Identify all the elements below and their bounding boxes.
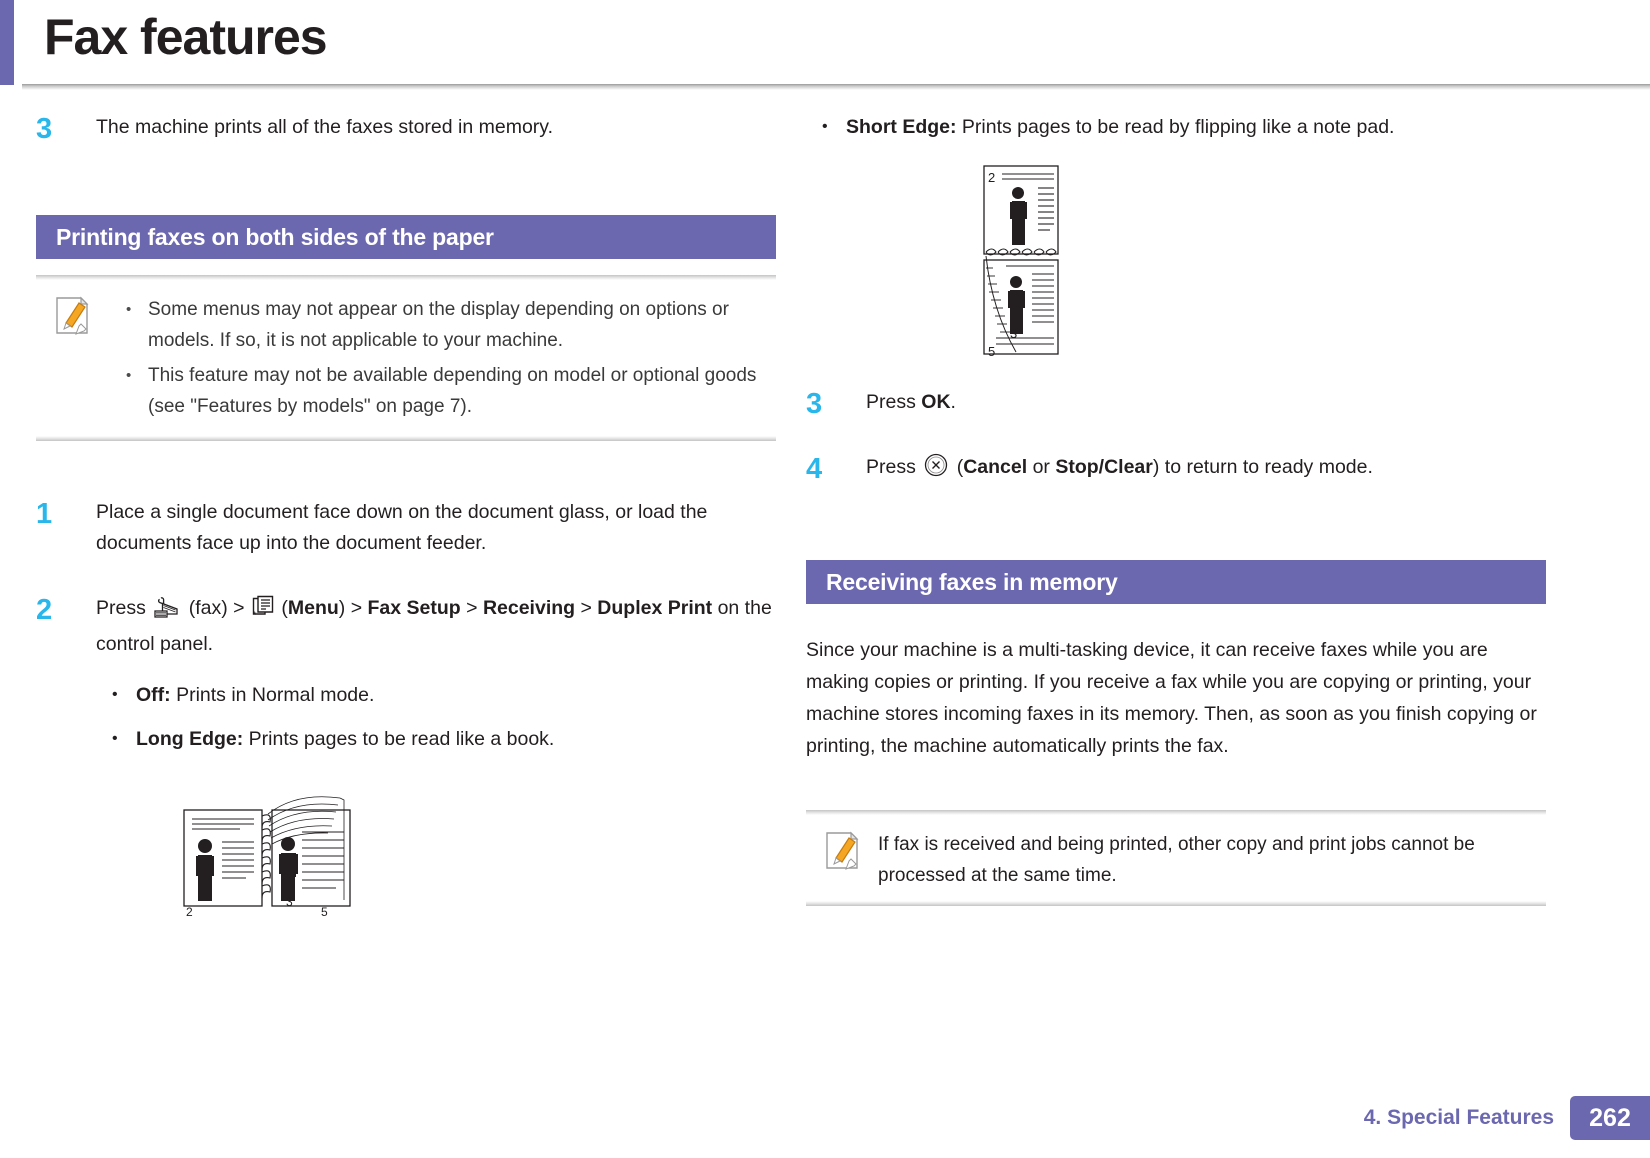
option-label: Long Edge:: [136, 728, 243, 750]
step-3-print-memory: 3 The machine prints all of the faxes st…: [36, 112, 776, 143]
menu-path-duplex-print: Duplex Print: [597, 597, 712, 619]
left-column: 3 The machine prints all of the faxes st…: [36, 112, 776, 923]
cancel-circle-x-icon: [923, 452, 949, 488]
step-text: Press (Cancel or Stop/Clear) to return t…: [866, 452, 1546, 488]
step-2-press-menu-path: 2 Press (fax) >: [36, 593, 776, 660]
note-bottom-divider: [36, 436, 776, 441]
path-separator: >: [580, 597, 591, 619]
menu-path-receiving: Receiving: [483, 597, 575, 619]
press-label: Press: [866, 456, 916, 478]
step-text: Press OK.: [866, 387, 1546, 418]
step-tail-text: to return to ready mode.: [1159, 456, 1373, 478]
svg-text:*: *: [253, 610, 257, 619]
menu-close-paren: ): [339, 597, 346, 619]
footer-chapter-label: 4. Special Features: [1364, 1096, 1570, 1140]
open-book-duplex-illustration: 2 5 3: [176, 788, 776, 923]
press-label: Press: [96, 597, 146, 619]
step-number: 1: [36, 499, 76, 529]
section-heading-receiving-faxes-memory: Receiving faxes in memory: [806, 560, 1546, 604]
step-text: Press (fax) > *: [96, 593, 776, 660]
press-label: Press: [866, 391, 916, 413]
page-title: Fax features: [44, 6, 327, 68]
header-accent-bar: [0, 0, 14, 85]
pad-page-number-middle: 3: [1010, 326, 1017, 341]
pad-page-number-bottom: 5: [988, 344, 995, 359]
step-text: The machine prints all of the faxes stor…: [96, 112, 776, 143]
step-4-press-cancel: 4 Press (Cancel or Stop/Clear) to return…: [806, 452, 1546, 488]
book-page-number-middle: 3: [286, 895, 293, 909]
option-label: Off:: [136, 684, 171, 706]
fax-label: (fax): [189, 597, 228, 619]
option-desc: Prints in Normal mode.: [176, 684, 374, 706]
section-heading-printing-both-sides: Printing faxes on both sides of the pape…: [36, 215, 776, 259]
note-pad-duplex-illustration: 2: [966, 160, 1546, 365]
cancel-button-label: Cancel: [963, 456, 1027, 478]
option-off: Off: Prints in Normal mode.: [96, 680, 776, 710]
note-bullet: Some menus may not appear on the display…: [114, 294, 776, 356]
note-pencil-icon: [824, 831, 862, 871]
note-text: If fax is received and being printed, ot…: [878, 829, 1546, 891]
fax-machine-icon: [153, 597, 181, 629]
period: .: [951, 391, 956, 413]
menu-path-fax-setup: Fax Setup: [368, 597, 461, 619]
step-3-press-ok: 3 Press OK.: [806, 387, 1546, 418]
step-number: 4: [806, 454, 846, 484]
option-desc: Prints pages to be read by flipping like…: [962, 116, 1395, 138]
path-separator: >: [233, 597, 244, 619]
path-separator: >: [466, 597, 477, 619]
step-number: 3: [36, 114, 76, 144]
option-short-edge: Short Edge: Prints pages to be read by f…: [806, 112, 1546, 142]
step-number: 3: [806, 389, 846, 419]
header-divider: [22, 84, 1650, 90]
menu-label: Menu: [288, 597, 339, 619]
option-long-edge: Long Edge: Prints pages to be read like …: [96, 724, 776, 754]
book-page-number-left: 2: [186, 905, 193, 918]
page-header: Fax features: [0, 0, 1650, 90]
receiving-memory-paragraph: Since your machine is a multi-tasking de…: [806, 634, 1546, 762]
note-pencil-icon: [54, 296, 92, 336]
pad-page-number-top: 2: [988, 170, 995, 185]
option-label: Short Edge:: [846, 116, 957, 138]
option-desc: Prints pages to be read like a book.: [249, 728, 555, 750]
step-text: Place a single document face down on the…: [96, 497, 776, 559]
step-number: 2: [36, 595, 76, 625]
stop-clear-button-label: Stop/Clear: [1055, 456, 1153, 478]
menu-list-icon: *: [252, 595, 274, 629]
path-separator: >: [351, 597, 362, 619]
note-box-fax-printing: If fax is received and being printed, ot…: [806, 794, 1546, 920]
note-bullet: This feature may not be available depend…: [114, 360, 776, 422]
footer-page-number: 262: [1570, 1096, 1650, 1140]
or-label: or: [1027, 456, 1055, 478]
note-box-menus: Some menus may not appear on the display…: [36, 259, 776, 455]
page-footer: 4. Special Features 262: [1364, 1096, 1650, 1140]
book-page-number-right: 5: [321, 905, 328, 918]
step-1-place-document: 1 Place a single document face down on t…: [36, 497, 776, 559]
note-bottom-divider: [806, 901, 1546, 906]
right-column: Short Edge: Prints pages to be read by f…: [806, 112, 1546, 920]
ok-button-label: OK: [921, 391, 950, 413]
